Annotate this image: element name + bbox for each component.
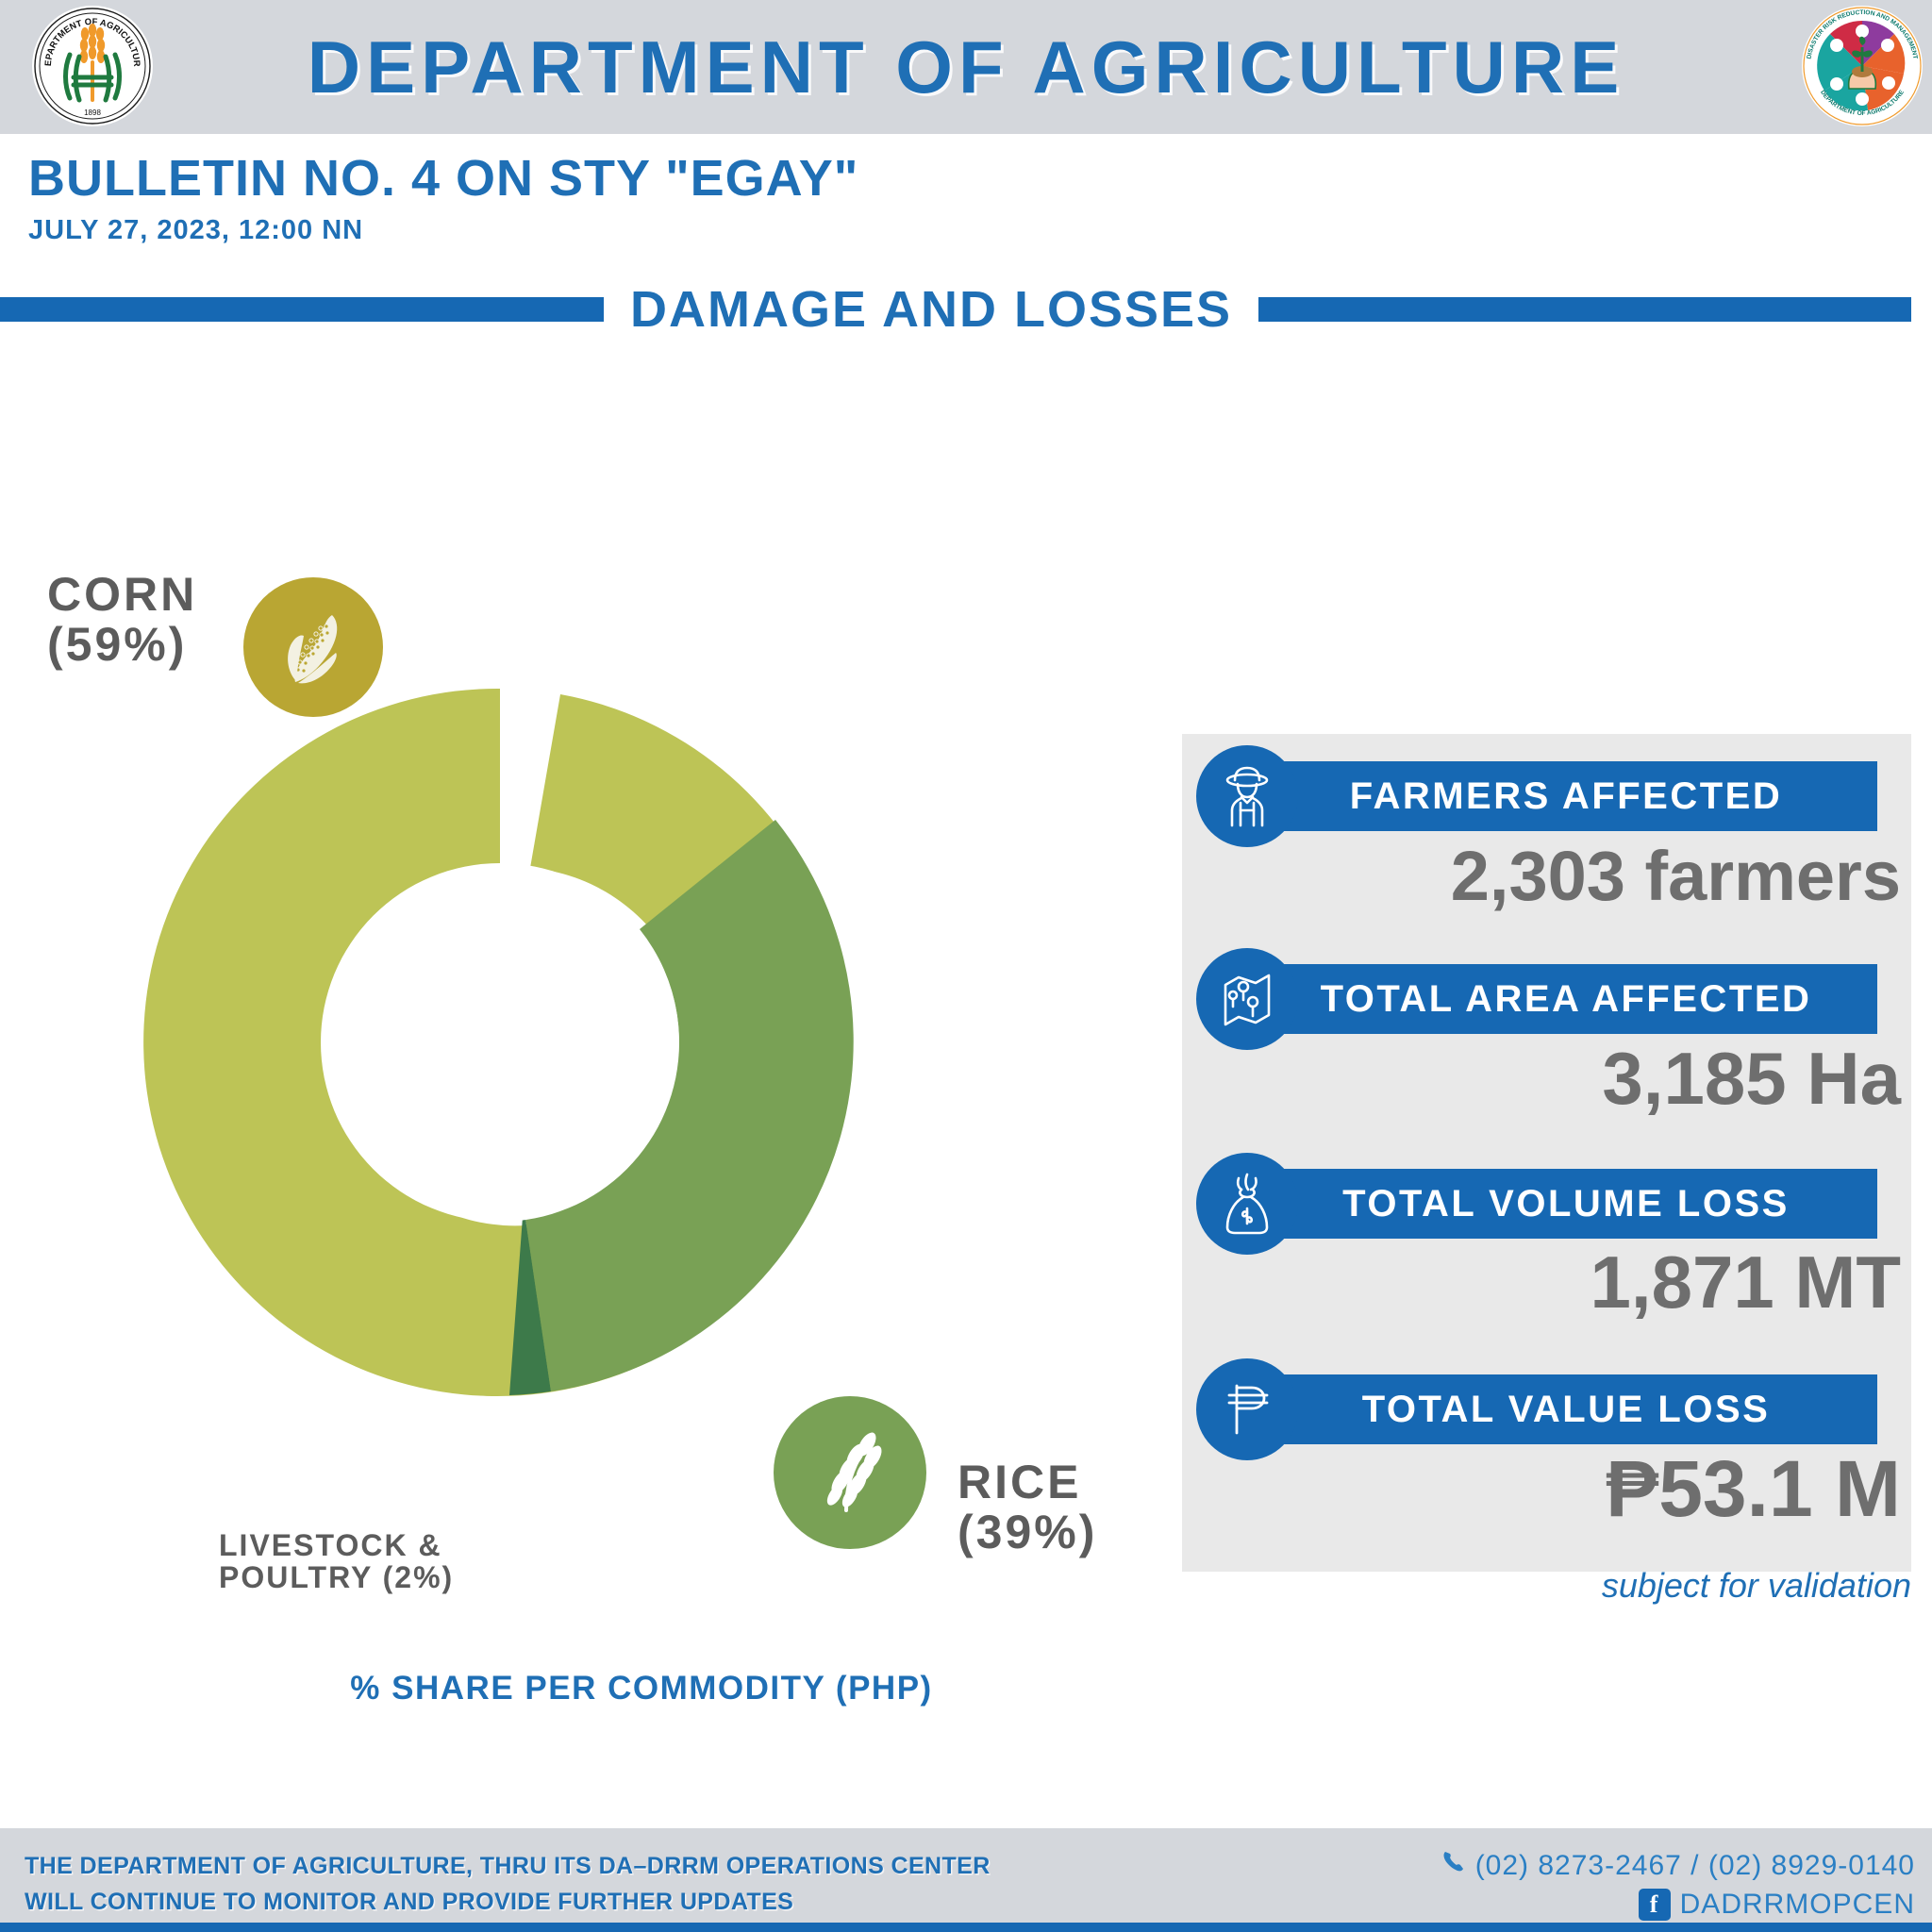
chart-caption: % SHARE PER COMMODITY (PHP) — [170, 1670, 1113, 1707]
footer-phone[interactable]: (02) 8273-2467 / (02) 8929-0140 — [1475, 1847, 1915, 1886]
donut-label-lsp-line2: POULTRY (2%) — [219, 1562, 454, 1594]
section-banner: DAMAGE AND LOSSES — [0, 283, 1932, 336]
facebook-icon[interactable]: f — [1639, 1889, 1671, 1921]
stat-label-total-value-loss: TOTAL VALUE LOSS — [1362, 1389, 1771, 1431]
corn-icon — [243, 577, 383, 717]
donut-label-rice-line2: (39%) — [958, 1507, 1097, 1557]
bulletin-datetime: JULY 27, 2023, 12:00 NN — [28, 215, 363, 246]
stat-value-farmers-affected: 2,303 farmers — [1198, 836, 1901, 916]
donut-label-corn-line1: CORN — [47, 570, 197, 620]
footer-message: THE DEPARTMENT OF AGRICULTURE, THRU ITS … — [25, 1849, 991, 1920]
validation-note: subject for validation — [1226, 1566, 1911, 1606]
stat-label-farmers-affected: FARMERS AFFECTED — [1350, 775, 1783, 818]
donut-label-lsp-line1: LIVESTOCK & — [219, 1530, 454, 1562]
grain-sack-icon — [1196, 1153, 1298, 1255]
footer: THE DEPARTMENT OF AGRICULTURE, THRU ITS … — [0, 1828, 1932, 1932]
footer-accent-rule — [0, 1923, 1932, 1932]
donut-label-livestock-poultry: LIVESTOCK & POULTRY (2%) — [219, 1530, 454, 1594]
app-header: DEPARTMENT OF AGRICULTURE — [0, 0, 1932, 134]
section-banner-title: DAMAGE AND LOSSES — [604, 280, 1258, 339]
stat-bar-farmers-affected: FARMERS AFFECTED — [1255, 761, 1877, 831]
stat-bar-total-value-loss: TOTAL VALUE LOSS — [1255, 1374, 1877, 1444]
phone-icon — [1440, 1847, 1466, 1886]
stat-value-total-volume-loss: 1,871 MT — [1198, 1240, 1901, 1325]
donut-label-corn-line2: (59%) — [47, 620, 197, 670]
footer-phone-line: (02) 8273-2467 / (02) 8929-0140 — [1440, 1847, 1915, 1886]
svg-text:1898: 1898 — [84, 108, 101, 117]
stat-bar-total-volume-loss: TOTAL VOLUME LOSS — [1255, 1169, 1877, 1239]
stat-value-total-value-loss: ₱53.1 M — [1198, 1443, 1901, 1535]
footer-message-line2: WILL CONTINUE TO MONITOR AND PROVIDE FUR… — [25, 1885, 991, 1921]
footer-contacts: (02) 8273-2467 / (02) 8929-0140 f DADRRM… — [1440, 1847, 1915, 1924]
farmer-icon — [1196, 745, 1298, 847]
stat-value-total-area-affected: 3,185 Ha — [1198, 1036, 1901, 1122]
stat-label-total-area-affected: TOTAL AREA AFFECTED — [1321, 978, 1812, 1021]
stat-label-total-volume-loss: TOTAL VOLUME LOSS — [1342, 1183, 1790, 1225]
da-drrm-seal-icon: DISASTER RISK REDUCTION AND MANAGEMENT D… — [1802, 6, 1923, 126]
footer-facebook-line: f DADRRMOPCEN — [1440, 1886, 1915, 1924]
donut-label-corn: CORN (59%) — [47, 570, 197, 670]
peso-icon — [1196, 1358, 1298, 1460]
stat-bar-total-area-affected: TOTAL AREA AFFECTED — [1255, 964, 1877, 1034]
banner-rule-right — [1258, 297, 1911, 322]
map-pins-icon — [1196, 948, 1298, 1050]
footer-facebook[interactable]: DADRRMOPCEN — [1680, 1886, 1915, 1924]
banner-rule-left — [0, 297, 604, 322]
page-title: DEPARTMENT OF AGRICULTURE — [308, 25, 1624, 110]
donut-label-rice-line1: RICE — [958, 1457, 1097, 1507]
footer-message-line1: THE DEPARTMENT OF AGRICULTURE, THRU ITS … — [25, 1849, 991, 1885]
bulletin-title: BULLETIN NO. 4 ON STY "EGAY" — [28, 149, 858, 208]
donut-hole — [321, 863, 679, 1222]
donut-label-rice: RICE (39%) — [958, 1457, 1097, 1557]
department-of-agriculture-seal-icon: DEPARTMENT OF AGRICULTURE 1898 — [32, 6, 153, 126]
rice-stalk-icon — [774, 1396, 926, 1549]
